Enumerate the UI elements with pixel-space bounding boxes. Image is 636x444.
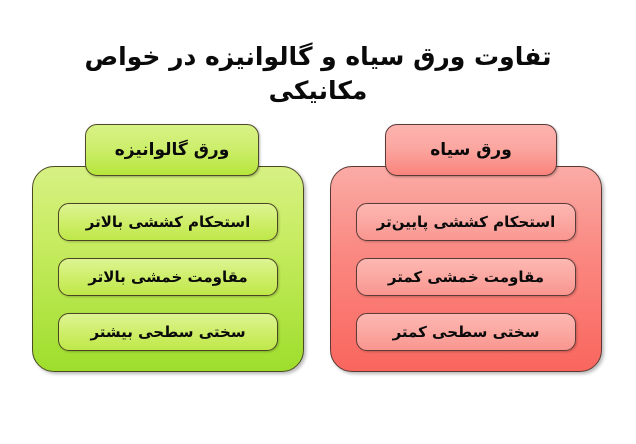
feature-item[interactable]: استحکام کششی بالاتر: [58, 203, 278, 241]
feature-item[interactable]: سختی سطحی بیشتر: [58, 313, 278, 351]
feature-list-galvanized: استحکام کششی بالاتر مقاومت خمشی بالاتر س…: [32, 166, 304, 372]
feature-item[interactable]: سختی سطحی کمتر: [356, 313, 576, 351]
feature-item[interactable]: مقاومت خمشی بالاتر: [58, 258, 278, 296]
column-header-black-sheet[interactable]: ورق سیاه: [385, 124, 557, 176]
diagram-canvas: تفاوت ورق سیاه و گالوانیزه در خواص مکانی…: [0, 0, 636, 444]
column-header-galvanized[interactable]: ورق گالوانیزه: [85, 124, 259, 176]
feature-item[interactable]: استحکام کششی پایین‌تر: [356, 203, 576, 241]
feature-list-black-sheet: استحکام کششی پایین‌تر مقاومت خمشی کمتر س…: [330, 166, 602, 372]
page-title: تفاوت ورق سیاه و گالوانیزه در خواص مکانی…: [0, 40, 636, 108]
feature-item[interactable]: مقاومت خمشی کمتر: [356, 258, 576, 296]
